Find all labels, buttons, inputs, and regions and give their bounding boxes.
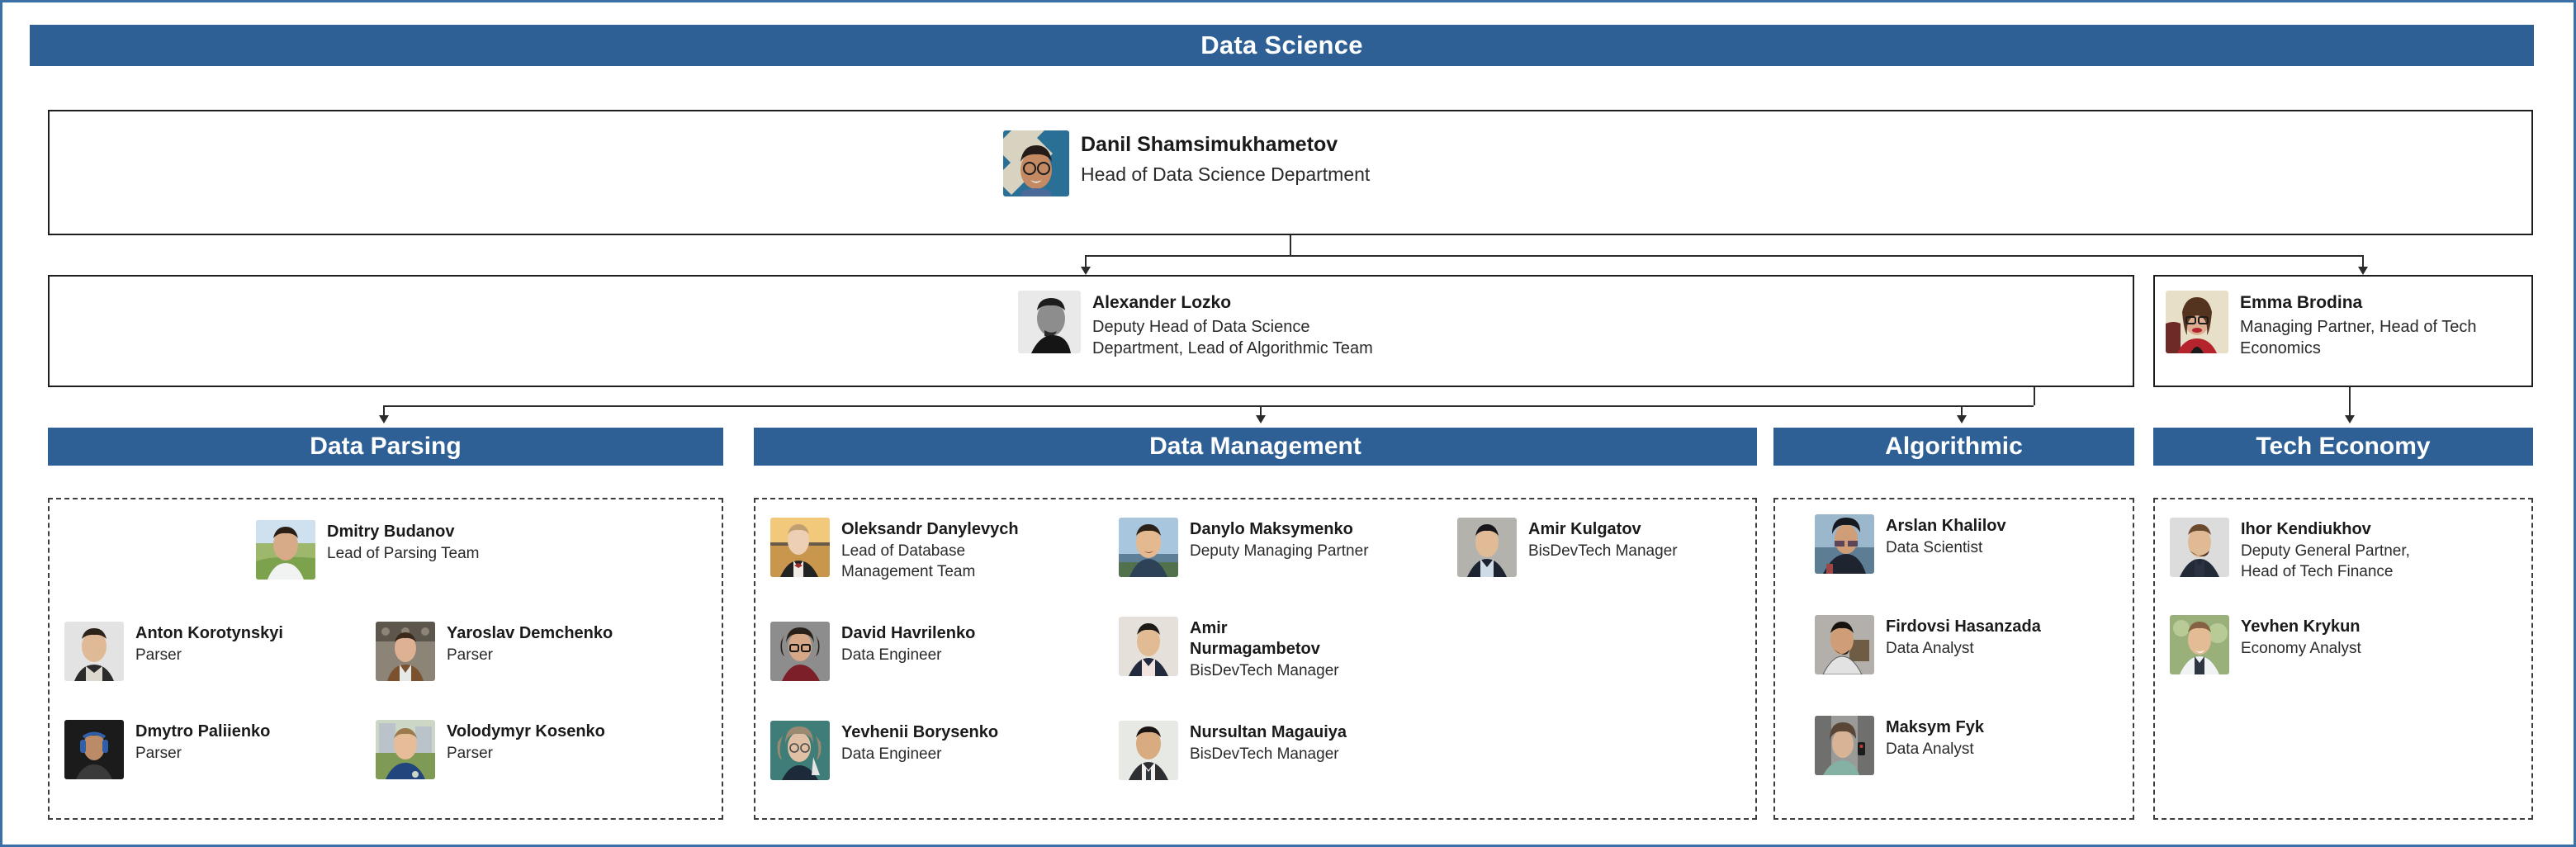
person-role: Deputy Managing Partner bbox=[1190, 542, 1369, 562]
person-card-volodymyr-kosenko[interactable]: Volodymyr Kosenko Parser bbox=[376, 720, 605, 779]
team-body-data-management: Oleksandr Danylevych Lead of Database Ma… bbox=[754, 498, 1757, 820]
connector-head-bus bbox=[1085, 255, 2363, 257]
person-text-amir-nurmagambetov: Amir Nurmagambetov BisDevTech Manager bbox=[1190, 617, 1339, 682]
person-text-danylo-maksymenko: Danylo Maksymenko Deputy Managing Partne… bbox=[1190, 518, 1369, 562]
maksym-avatar bbox=[1815, 716, 1874, 775]
avatar-image bbox=[770, 721, 830, 780]
person-name: Volodymyr Kosenko bbox=[447, 722, 605, 742]
person-name: Dmitry Budanov bbox=[327, 522, 480, 542]
alexander-avatar bbox=[1018, 291, 1081, 353]
team-header-data-management: Data Management bbox=[754, 428, 1757, 466]
person-role: BisDevTech Manager bbox=[1190, 661, 1339, 682]
deputy-head-container-box: Alexander Lozko Deputy Head of Data Scie… bbox=[48, 275, 2134, 387]
person-text-dmitry-budanov: Dmitry Budanov Lead of Parsing Team bbox=[327, 520, 480, 565]
person-card-amir-kulgatov[interactable]: Amir Kulgatov BisDevTech Manager bbox=[1457, 518, 1678, 577]
person-role: Data Analyst bbox=[1886, 740, 1984, 760]
person-role: Parser bbox=[135, 646, 283, 666]
avatar-image bbox=[1119, 518, 1178, 577]
arrow-to-algorithmic-icon bbox=[1957, 415, 1967, 423]
person-role: Parser bbox=[447, 744, 605, 764]
arrow-to-brodina-icon bbox=[2358, 267, 2368, 275]
avatar-image bbox=[2166, 291, 2228, 353]
person-name: Ihor Kendiukhov bbox=[2241, 519, 2410, 540]
avatar-image bbox=[1815, 514, 1874, 574]
anton-avatar bbox=[64, 622, 124, 681]
person-name: Maksym Fyk bbox=[1886, 717, 1984, 738]
person-name: Yevhen Krykun bbox=[2241, 617, 2361, 637]
person-role: Lead of Parsing Team bbox=[327, 544, 480, 565]
avatar-image bbox=[376, 720, 435, 779]
connector-head-stem bbox=[1290, 235, 1291, 255]
person-role: Parser bbox=[135, 744, 270, 764]
person-role-line1: Deputy General Partner, bbox=[2241, 542, 2410, 562]
team-title-text: Algorithmic bbox=[1885, 433, 2023, 461]
arrow-to-data-parsing-icon bbox=[379, 415, 389, 423]
team-header-algorithmic: Algorithmic bbox=[1773, 428, 2134, 466]
team-body-algorithmic: Arslan Khalilov Data Scientist Firdovsi … bbox=[1773, 498, 2134, 820]
person-text-alexander-lozko: Alexander Lozko Deputy Head of Data Scie… bbox=[1092, 291, 1373, 359]
avatar-image bbox=[1457, 518, 1517, 577]
person-card-maksym-fyk[interactable]: Maksym Fyk Data Analyst bbox=[1815, 716, 1984, 775]
nursultan-avatar bbox=[1119, 721, 1178, 780]
dmitry-avatar bbox=[256, 520, 315, 580]
person-text-nursultan-magauiya: Nursultan Magauiya BisDevTech Manager bbox=[1190, 721, 1347, 765]
arrow-to-tech-economy-icon bbox=[2345, 415, 2355, 423]
team-title-text: Data Parsing bbox=[310, 433, 461, 461]
person-card-arslan-khalilov[interactable]: Arslan Khalilov Data Scientist bbox=[1815, 514, 2006, 574]
person-name: Anton Korotynskyi bbox=[135, 623, 283, 644]
person-role-line2: Economics bbox=[2240, 338, 2476, 359]
person-name: Firdovsi Hasanzada bbox=[1886, 617, 2041, 637]
person-card-yevhen-krykun[interactable]: Yevhen Krykun Economy Analyst bbox=[2170, 615, 2361, 674]
person-text-firdovsi-hasanzada: Firdovsi Hasanzada Data Analyst bbox=[1886, 615, 2041, 660]
person-name: David Havrilenko bbox=[841, 623, 975, 644]
person-card-oleksandr-danylevych[interactable]: Oleksandr Danylevych Lead of Database Ma… bbox=[770, 518, 1019, 583]
person-card-yevhenii-borysenko[interactable]: Yevhenii Borysenko Data Engineer bbox=[770, 721, 998, 780]
person-role: Economy Analyst bbox=[2241, 639, 2361, 660]
person-card-dmitry-budanov[interactable]: Dmitry Budanov Lead of Parsing Team bbox=[256, 520, 480, 580]
team-body-tech-economy: Ihor Kendiukhov Deputy General Partner, … bbox=[2153, 498, 2533, 820]
person-text-emma-brodina: Emma Brodina Managing Partner, Head of T… bbox=[2240, 291, 2476, 359]
avatar-image bbox=[1119, 617, 1178, 676]
person-name: Yevhenii Borysenko bbox=[841, 722, 998, 743]
person-text-head: Danil Shamsimukhametov Head of Data Scie… bbox=[1081, 130, 1370, 187]
org-chart-page: Data Science Danil Shamsimukhametov bbox=[0, 0, 2576, 847]
volodymyr-avatar bbox=[376, 720, 435, 779]
person-name: Alexander Lozko bbox=[1092, 292, 1373, 314]
person-role-line2: Head of Tech Finance bbox=[2241, 562, 2410, 583]
avatar-image bbox=[1815, 716, 1874, 775]
person-card-alexander-lozko[interactable]: Alexander Lozko Deputy Head of Data Scie… bbox=[1018, 291, 1373, 359]
team-header-tech-economy: Tech Economy bbox=[2153, 428, 2533, 466]
ihor-avatar bbox=[2170, 518, 2229, 577]
avatar-image bbox=[1815, 615, 1874, 674]
avatar-image bbox=[256, 520, 315, 580]
person-text-arslan-khalilov: Arslan Khalilov Data Scientist bbox=[1886, 514, 2006, 559]
person-card-david-havrilenko[interactable]: David Havrilenko Data Engineer bbox=[770, 622, 975, 681]
avatar-image bbox=[770, 622, 830, 681]
person-card-anton-korotynskyi[interactable]: Anton Korotynskyi Parser bbox=[64, 622, 283, 681]
person-text-maksym-fyk: Maksym Fyk Data Analyst bbox=[1886, 716, 1984, 760]
person-card-yaroslav-demchenko[interactable]: Yaroslav Demchenko Parser bbox=[376, 622, 613, 681]
person-text-anton-korotynskyi: Anton Korotynskyi Parser bbox=[135, 622, 283, 666]
person-role: Data Engineer bbox=[841, 745, 998, 765]
yaroslav-avatar bbox=[376, 622, 435, 681]
person-role-line2: Management Team bbox=[841, 562, 1019, 583]
person-name: Danil Shamsimukhametov bbox=[1081, 132, 1370, 159]
person-role-line1: Lead of Database bbox=[841, 542, 1019, 562]
tech-economics-head-container-box: Emma Brodina Managing Partner, Head of T… bbox=[2153, 275, 2533, 387]
avatar-image bbox=[1003, 130, 1069, 196]
danylo-avatar bbox=[1119, 518, 1178, 577]
team-title-text: Tech Economy bbox=[2256, 433, 2430, 461]
department-title-banner: Data Science bbox=[30, 25, 2534, 66]
team-body-data-parsing: Dmitry Budanov Lead of Parsing Team Anto… bbox=[48, 498, 723, 820]
person-role: Parser bbox=[447, 646, 613, 666]
emma-avatar bbox=[2166, 291, 2228, 353]
person-card-danylo-maksymenko[interactable]: Danylo Maksymenko Deputy Managing Partne… bbox=[1119, 518, 1369, 577]
person-name: Dmytro Paliienko bbox=[135, 722, 270, 742]
person-text-volodymyr-kosenko: Volodymyr Kosenko Parser bbox=[447, 720, 605, 764]
person-card-amir-nurmagambetov[interactable]: Amir Nurmagambetov BisDevTech Manager bbox=[1119, 617, 1339, 682]
person-text-yevhenii-borysenko: Yevhenii Borysenko Data Engineer bbox=[841, 721, 998, 765]
connector-lozko-bus bbox=[383, 405, 2034, 407]
avatar-image bbox=[2170, 518, 2229, 577]
amirn-avatar bbox=[1119, 617, 1178, 676]
person-role-line1: Deputy Head of Data Science bbox=[1092, 316, 1373, 338]
person-text-amir-kulgatov: Amir Kulgatov BisDevTech Manager bbox=[1528, 518, 1678, 562]
person-card-head[interactable]: Danil Shamsimukhametov Head of Data Scie… bbox=[1003, 130, 1370, 196]
person-text-yevhen-krykun: Yevhen Krykun Economy Analyst bbox=[2241, 615, 2361, 660]
person-name: Oleksandr Danylevych bbox=[841, 519, 1019, 540]
person-role-line2: Department, Lead of Algorithmic Team bbox=[1092, 338, 1373, 359]
avatar-image bbox=[64, 720, 124, 779]
person-role: Data Scientist bbox=[1886, 538, 2006, 559]
person-role-line1: Managing Partner, Head of Tech bbox=[2240, 316, 2476, 338]
person-card-dmytro-paliienko[interactable]: Dmytro Paliienko Parser bbox=[64, 720, 270, 779]
person-text-dmytro-paliienko: Dmytro Paliienko Parser bbox=[135, 720, 270, 764]
person-name: Nursultan Magauiya bbox=[1190, 722, 1347, 743]
avatar-image bbox=[2170, 615, 2229, 674]
connector-lozko-stem bbox=[2034, 387, 2035, 405]
person-role: Data Engineer bbox=[841, 646, 975, 666]
firdovsi-avatar bbox=[1815, 615, 1874, 674]
person-role: Data Analyst bbox=[1886, 639, 2041, 660]
danil-avatar bbox=[1003, 130, 1069, 196]
david-avatar bbox=[770, 622, 830, 681]
person-role: BisDevTech Manager bbox=[1528, 542, 1678, 562]
arrow-to-lozko-icon bbox=[1081, 267, 1091, 275]
person-text-david-havrilenko: David Havrilenko Data Engineer bbox=[841, 622, 975, 666]
person-name: Yaroslav Demchenko bbox=[447, 623, 613, 644]
team-header-data-parsing: Data Parsing bbox=[48, 428, 723, 466]
person-text-ihor-kendiukhov: Ihor Kendiukhov Deputy General Partner, … bbox=[2241, 518, 2410, 583]
avatar-image bbox=[376, 622, 435, 681]
avatar-image bbox=[64, 622, 124, 681]
person-name: Emma Brodina bbox=[2240, 292, 2476, 314]
person-name-line2: Nurmagambetov bbox=[1190, 639, 1339, 660]
person-card-nursultan-magauiya[interactable]: Nursultan Magauiya BisDevTech Manager bbox=[1119, 721, 1347, 780]
head-container-box: Danil Shamsimukhametov Head of Data Scie… bbox=[48, 110, 2533, 235]
avatar-image bbox=[770, 518, 830, 577]
department-title-text: Data Science bbox=[1200, 31, 1363, 60]
person-role: BisDevTech Manager bbox=[1190, 745, 1347, 765]
person-text-yaroslav-demchenko: Yaroslav Demchenko Parser bbox=[447, 622, 613, 666]
person-name: Danylo Maksymenko bbox=[1190, 519, 1369, 540]
person-card-firdovsi-hasanzada[interactable]: Firdovsi Hasanzada Data Analyst bbox=[1815, 615, 2041, 674]
avatar-image bbox=[1119, 721, 1178, 780]
dmytro-avatar bbox=[64, 720, 124, 779]
person-role: Head of Data Science Department bbox=[1081, 163, 1370, 187]
arrow-to-data-management-icon bbox=[1256, 415, 1266, 423]
yevhen-avatar bbox=[2170, 615, 2229, 674]
person-text-oleksandr-danylevych: Oleksandr Danylevych Lead of Database Ma… bbox=[841, 518, 1019, 583]
person-name: Amir Kulgatov bbox=[1528, 519, 1678, 540]
person-card-emma-brodina[interactable]: Emma Brodina Managing Partner, Head of T… bbox=[2166, 291, 2476, 359]
team-title-text: Data Management bbox=[1149, 433, 1361, 461]
yevhenii-avatar bbox=[770, 721, 830, 780]
arslan-avatar bbox=[1815, 514, 1874, 574]
amirk-avatar bbox=[1457, 518, 1517, 577]
oleksandr-avatar bbox=[770, 518, 830, 577]
person-card-ihor-kendiukhov[interactable]: Ihor Kendiukhov Deputy General Partner, … bbox=[2170, 518, 2410, 583]
avatar-image bbox=[1018, 291, 1081, 353]
person-name: Arslan Khalilov bbox=[1886, 516, 2006, 537]
person-name-line1: Amir bbox=[1190, 618, 1339, 639]
